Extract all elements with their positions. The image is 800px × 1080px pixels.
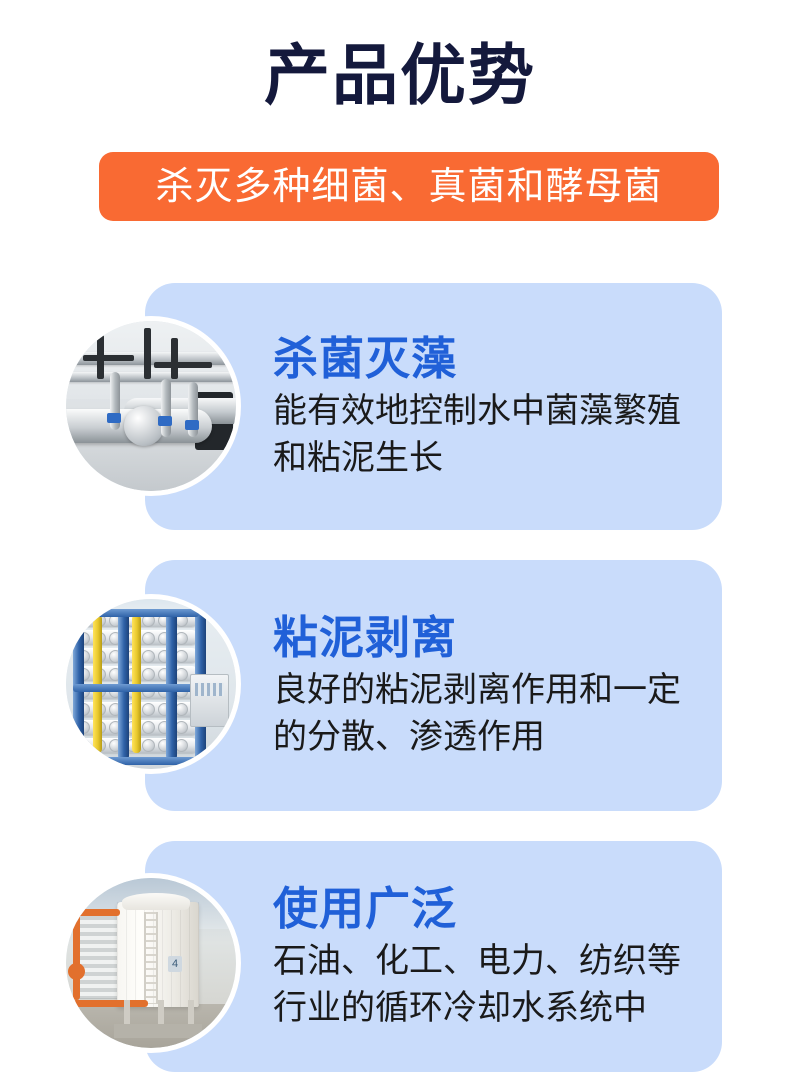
- feature-card-heading: 粘泥剥离: [273, 610, 710, 665]
- feature-card-description: 能有效地控制水中菌藻繁殖和粘泥生长: [273, 388, 710, 482]
- cooling-tower-photo: 4: [66, 878, 236, 1048]
- feature-card-heading: 杀菌灭藻: [273, 331, 710, 386]
- feature-card-image: [61, 594, 241, 774]
- feature-card-body: 杀菌灭藻 能有效地控制水中菌藻繁殖和粘泥生长: [273, 283, 710, 530]
- feature-card-description: 良好的粘泥剥离作用和一定的分散、渗透作用: [273, 667, 710, 761]
- feature-card-image: [61, 316, 241, 496]
- ro-membrane-skid-photo: [66, 599, 236, 769]
- highlight-banner: 杀灭多种细菌、真菌和酵母菌: [99, 152, 719, 221]
- feature-card-body: 使用广泛 石油、化工、电力、纺织等行业的循环冷却水系统中: [273, 841, 710, 1072]
- page-title: 产品优势: [0, 36, 800, 114]
- feature-card-body: 粘泥剥离 良好的粘泥剥离作用和一定的分散、渗透作用: [273, 560, 710, 811]
- industrial-piping-photo: [66, 321, 236, 491]
- feature-card-image: 4: [61, 873, 241, 1053]
- highlight-banner-text: 杀灭多种细菌、真菌和酵母菌: [155, 167, 662, 207]
- feature-card-heading: 使用广泛: [273, 881, 710, 936]
- feature-card-description: 石油、化工、电力、纺织等行业的循环冷却水系统中: [273, 938, 710, 1032]
